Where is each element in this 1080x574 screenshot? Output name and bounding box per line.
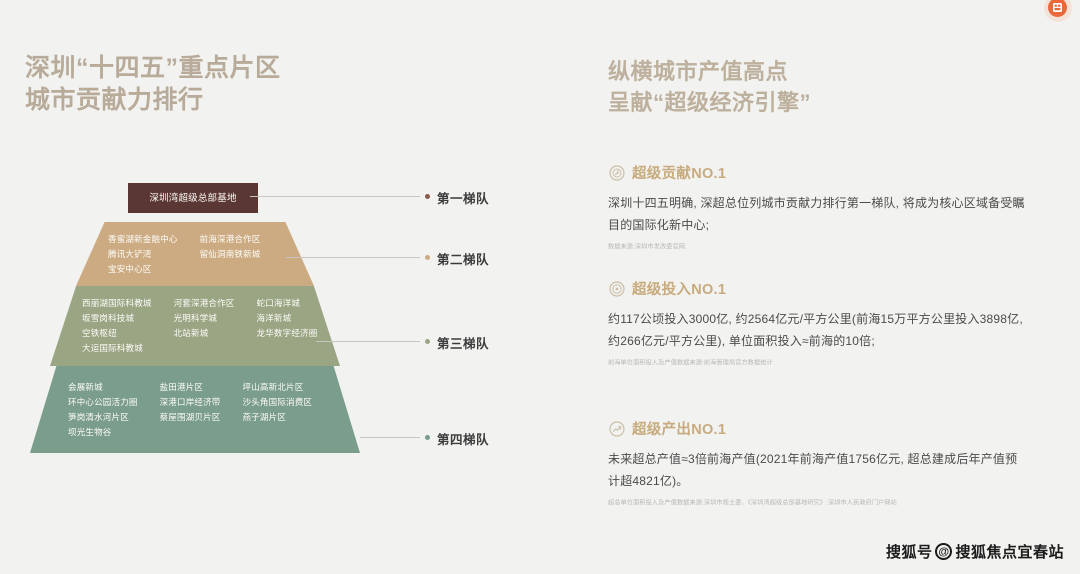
tier-1-item: 深圳湾超级总部基地: [149, 191, 236, 206]
pyramid-tier-2: 香蜜湖新金融中心 腾讯大铲湾 宝安中心区 前海深港合作区 留仙洞南铁新城: [76, 222, 314, 286]
at-sign-icon: @: [935, 543, 952, 560]
watermark-prefix: 搜狐号: [886, 541, 933, 562]
slide-canvas: 深圳“十四五”重点片区 城市贡献力排行 纵横城市产值高点 呈献“超级经济引擎” …: [0, 0, 1080, 574]
watermark: 搜狐号 @ 搜狐焦点宜春站: [886, 541, 1064, 562]
tier-3-item: 蛇口海洋城: [257, 296, 318, 311]
tier-3-column-3: 蛇口海洋城 海洋新城 龙华数字经济圈: [257, 296, 318, 356]
left-title-line-1: 深圳“十四五”重点片区: [25, 52, 281, 84]
right-page-title: 纵横城市产值高点 呈献“超级经济引擎”: [608, 56, 811, 118]
tier-pyramid-chart: 深圳湾超级总部基地 香蜜湖新金融中心 腾讯大铲湾 宝安中心区 前海深港合作区 留…: [30, 175, 420, 475]
tier-4-item: 坝光生物谷: [68, 425, 138, 440]
pyramid-tier-1: 深圳湾超级总部基地: [128, 183, 258, 213]
section-1-header: 超级贡献NO.1: [608, 162, 1028, 183]
section-3-source-note: 超总单位面积投入及产值数据来源:深圳市规土委、《深圳湾超级总部基地研究》:深圳市…: [608, 499, 1007, 509]
tier-4-item: 沙头角国际消费区: [243, 395, 313, 410]
tier-3-column-2: 河套深港合作区 光明科学城 北站新城: [174, 296, 235, 356]
tier-4-item: 深港口岸经济带: [160, 395, 221, 410]
tier-3-item: 大运国际科教城: [82, 341, 152, 356]
tier-3-content: 西丽湖国际科教城 坂雪岗科技城 空铁枢纽 大运国际科教城 河套深港合作区 光明科…: [50, 286, 340, 366]
tier-4-item: 坪山高新北片区: [243, 380, 313, 395]
section-2-title: 超级投入NO.1: [632, 278, 726, 299]
tier-4-label: 第四梯队: [437, 429, 489, 448]
tier-3-label: 第三梯队: [437, 333, 489, 352]
section-1-source-note: 数据来源:深圳市发改委官网.: [608, 243, 1007, 253]
tier-2-item: 留仙洞南铁新城: [200, 247, 261, 262]
tier-4-item: 环中心公园活力圈: [68, 395, 138, 410]
tier-3-item: 西丽湖国际科教城: [82, 296, 152, 311]
tier-4-item: 会展新城: [68, 380, 138, 395]
tier-1-column-1: 深圳湾超级总部基地: [149, 191, 236, 206]
section-super-output: 超级产出NO.1 未来超总产值≈3倍前海产值(2021年前海产值1756亿元, …: [608, 418, 1028, 509]
left-page-title: 深圳“十四五”重点片区 城市贡献力排行: [25, 52, 281, 116]
tier-3-column-1: 西丽湖国际科教城 坂雪岗科技城 空铁枢纽 大运国际科教城: [82, 296, 152, 356]
right-title-line-1: 纵横城市产值高点: [608, 56, 811, 87]
section-2-source-note: 前海单位面积投入及产值数据来源:前海管理局官方数据统计: [608, 359, 1007, 369]
section-3-title: 超级产出NO.1: [632, 418, 726, 439]
tier-4-item: 蔡屋围湖贝片区: [160, 410, 221, 425]
investment-target-icon: [608, 280, 625, 297]
section-1-title: 超级贡献NO.1: [632, 162, 726, 183]
tier-2-item: 腾讯大铲湾: [108, 247, 178, 262]
right-title-line-2: 呈献“超级经济引擎”: [608, 87, 811, 118]
tier-2-label: 第二梯队: [437, 249, 489, 268]
tier-1-dot: [425, 194, 430, 199]
tier-2-columns: 香蜜湖新金融中心 腾讯大铲湾 宝安中心区 前海深港合作区 留仙洞南铁新城: [108, 232, 261, 277]
tier-3-item: 海洋新城: [257, 311, 318, 326]
tier-4-column-2: 盐田港片区 深港口岸经济带 蔡屋围湖贝片区: [160, 380, 221, 440]
section-super-investment: 超级投入NO.1 约117公顷投入3000亿, 约2564亿元/平方公里(前海1…: [608, 278, 1028, 369]
tier-1-content: 深圳湾超级总部基地: [128, 183, 258, 213]
tier-2-dot: [425, 255, 430, 260]
section-2-body: 约117公顷投入3000亿, 约2564亿元/平方公里(前海15万平方公里投入3…: [608, 308, 1028, 352]
tier-2-item: 宝安中心区: [108, 262, 178, 277]
section-3-body: 未来超总产值≈3倍前海产值(2021年前海产值1756亿元, 超总建成后年产值预…: [608, 448, 1028, 492]
tier-2-item: 香蜜湖新金融中心: [108, 232, 178, 247]
left-title-line-2: 城市贡献力排行: [25, 84, 281, 116]
tier-3-item: 光明科学城: [174, 311, 235, 326]
tier-4-connector: [360, 437, 420, 438]
sohu-badge[interactable]: [1040, 0, 1074, 28]
section-2-header: 超级投入NO.1: [608, 278, 1028, 299]
section-3-header: 超级产出NO.1: [608, 418, 1028, 439]
tier-4-column-3: 坪山高新北片区 沙头角国际消费区 燕子湖片区: [243, 380, 313, 440]
tier-4-item: 笋岗清水河片区: [68, 410, 138, 425]
tier-2-column-2: 前海深港合作区 留仙洞南铁新城: [200, 232, 261, 277]
output-growth-icon: [608, 420, 625, 437]
pyramid-tier-3: 西丽湖国际科教城 坂雪岗科技城 空铁枢纽 大运国际科教城 河套深港合作区 光明科…: [50, 286, 340, 366]
tier-1-columns: 深圳湾超级总部基地: [149, 191, 236, 206]
tier-4-columns: 会展新城 环中心公园活力圈 笋岗清水河片区 坝光生物谷 盐田港片区 深港口岸经济…: [68, 380, 312, 440]
watermark-suffix: 搜狐焦点宜春站: [955, 541, 1064, 562]
tier-1-label: 第一梯队: [437, 188, 489, 207]
pyramid-tier-4: 会展新城 环中心公园活力圈 笋岗清水河片区 坝光生物谷 盐田港片区 深港口岸经济…: [30, 366, 360, 453]
tier-2-column-1: 香蜜湖新金融中心 腾讯大铲湾 宝安中心区: [108, 232, 178, 277]
section-super-contribution: 超级贡献NO.1 深圳十四五明确, 深超总位列城市贡献力排行第一梯队, 将成为核…: [608, 162, 1028, 253]
tier-2-content: 香蜜湖新金融中心 腾讯大铲湾 宝安中心区 前海深港合作区 留仙洞南铁新城: [76, 222, 314, 286]
tier-3-columns: 西丽湖国际科教城 坂雪岗科技城 空铁枢纽 大运国际科教城 河套深港合作区 光明科…: [82, 296, 317, 356]
contribution-medal-icon: [608, 164, 625, 181]
tier-2-item: 前海深港合作区: [200, 232, 261, 247]
tier-3-item: 北站新城: [174, 326, 235, 341]
tier-3-item: 空铁枢纽: [82, 326, 152, 341]
tier-4-content: 会展新城 环中心公园活力圈 笋岗清水河片区 坝光生物谷 盐田港片区 深港口岸经济…: [30, 366, 360, 453]
tier-4-item: 盐田港片区: [160, 380, 221, 395]
section-1-body: 深圳十四五明确, 深超总位列城市贡献力排行第一梯队, 将成为核心区域备受瞩目的国…: [608, 192, 1028, 236]
tier-4-column-1: 会展新城 环中心公园活力圈 笋岗清水河片区 坝光生物谷: [68, 380, 138, 440]
tier-4-item: 燕子湖片区: [243, 410, 313, 425]
tier-1-connector: [250, 196, 420, 197]
tier-3-item: 龙华数字经济圈: [257, 326, 318, 341]
tier-3-dot: [425, 339, 430, 344]
tier-3-item: 坂雪岗科技城: [82, 311, 152, 326]
tier-2-connector: [286, 257, 420, 258]
tier-3-connector: [316, 341, 420, 342]
tier-4-dot: [425, 435, 430, 440]
tier-3-item: 河套深港合作区: [174, 296, 235, 311]
